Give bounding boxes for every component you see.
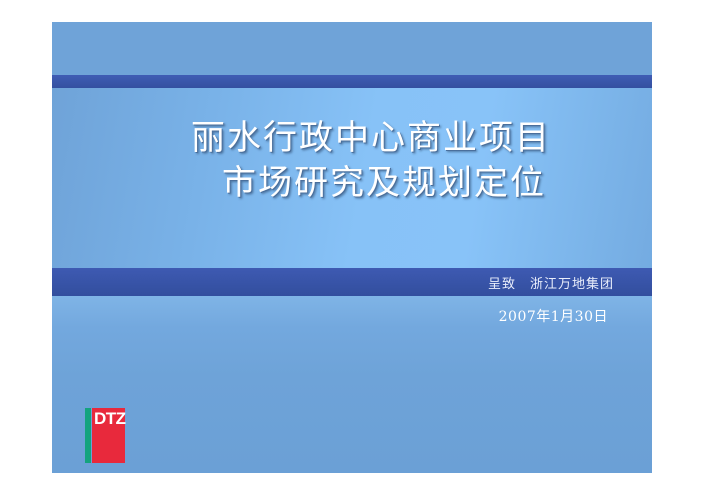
top-blue-band (52, 22, 652, 75)
title-block: 丽水行政中心商业项目 市场研究及规划定位 (52, 116, 630, 206)
slide-title-line-2: 市场研究及规划定位 (112, 161, 630, 206)
bottom-blue-band: 2007年1月30日 (52, 296, 652, 473)
top-divider-rule (52, 75, 652, 88)
client-prefix-label: 呈致 (488, 277, 516, 292)
slide-panel: 丽水行政中心商业项目 市场研究及规划定位 呈致浙江万地集团 2007年1月30日… (52, 22, 652, 473)
dtz-logo-green-stripe (85, 408, 91, 463)
bottom-divider-rule: 呈致浙江万地集团 (52, 268, 652, 296)
dtz-logo: DTZ (85, 408, 125, 463)
client-name-label: 浙江万地集团 (530, 277, 614, 292)
dtz-logo-wordmark: DTZ (94, 409, 126, 429)
presentation-slide: 丽水行政中心商业项目 市场研究及规划定位 呈致浙江万地集团 2007年1月30日… (0, 0, 702, 496)
presentation-date: 2007年1月30日 (499, 306, 608, 326)
slide-title-line-1: 丽水行政中心商业项目 (112, 116, 630, 161)
client-line: 呈致浙江万地集团 (488, 273, 614, 292)
title-region: 丽水行政中心商业项目 市场研究及规划定位 (52, 88, 652, 268)
